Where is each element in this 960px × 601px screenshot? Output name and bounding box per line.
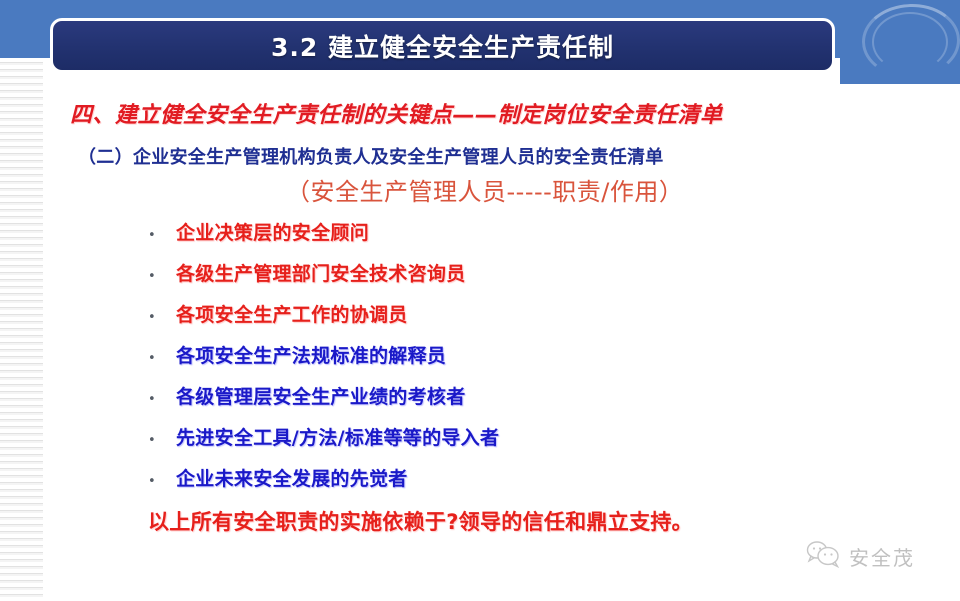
list-item-label: 企业决策层的安全顾问	[176, 218, 369, 245]
slide-canvas: 3.2 建立健全安全生产责任制 四、建立健全安全生产责任制的关键点——制定岗位安…	[0, 0, 960, 601]
bullet-dot-icon: •	[148, 434, 176, 447]
subsection-subtitle-orange: （安全生产管理人员-----职责/作用）	[286, 172, 683, 207]
bullet-list: •企业决策层的安全顾问•各级生产管理部门安全技术咨询员•各项安全生产工作的协调员…	[148, 218, 848, 505]
list-item: •企业未来安全发展的先觉者	[148, 464, 848, 505]
list-item-label: 各级生产管理部门安全技术咨询员	[176, 259, 466, 286]
slide-title-text: 3.2 建立健全安全生产责任制	[271, 28, 614, 64]
list-item: •各项安全生产工作的协调员	[148, 300, 848, 341]
list-item-label: 各项安全生产工作的协调员	[176, 300, 408, 327]
bullet-dot-icon: •	[148, 352, 176, 365]
list-item-label: 各项安全生产法规标准的解释员	[176, 341, 446, 368]
slide-title-plate: 3.2 建立健全安全生产责任制	[50, 18, 835, 73]
subsection-heading-blue: （二）企业安全生产管理机构负责人及安全生产管理人员的安全责任清单	[78, 143, 664, 169]
list-item: •先进安全工具/方法/标准等等的导入者	[148, 423, 848, 464]
left-stripe-edge	[43, 58, 46, 601]
bullet-dot-icon: •	[148, 270, 176, 283]
watermark-label: 安全茂	[849, 542, 915, 571]
left-stripe-decoration	[0, 58, 46, 601]
list-item-label: 先进安全工具/方法/标准等等的导入者	[176, 423, 499, 450]
bullet-dot-icon: •	[148, 475, 176, 488]
watermark: 安全茂	[806, 540, 915, 572]
wechat-logo-icon	[806, 540, 840, 572]
bullet-dot-icon: •	[148, 229, 176, 242]
list-item-label: 企业未来安全发展的先觉者	[176, 464, 408, 491]
bullet-dot-icon: •	[148, 393, 176, 406]
top-blue-band-right-extension	[840, 0, 960, 84]
list-item: •企业决策层的安全顾问	[148, 218, 848, 259]
list-item: •各级生产管理部门安全技术咨询员	[148, 259, 848, 300]
bullet-dot-icon: •	[148, 311, 176, 324]
list-item: •各级管理层安全生产业绩的考核者	[148, 382, 848, 423]
list-item: •各项安全生产法规标准的解释员	[148, 341, 848, 382]
list-item-label: 各级管理层安全生产业绩的考核者	[176, 382, 466, 409]
closing-statement: 以上所有安全职责的实施依赖于?领导的信任和鼎立支持。	[148, 506, 693, 536]
section-heading-red: 四、建立健全安全生产责任制的关键点——制定岗位安全责任清单	[70, 97, 723, 129]
